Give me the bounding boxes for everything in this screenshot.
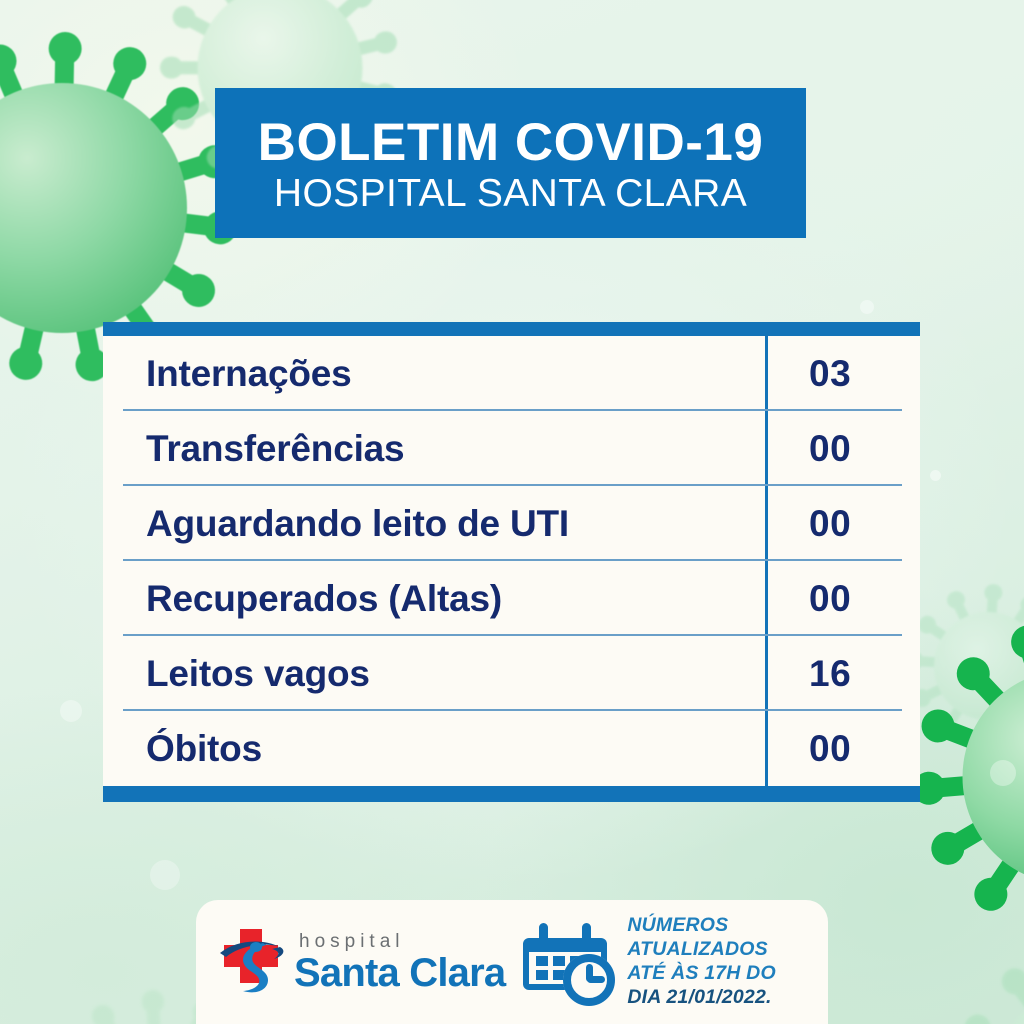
covid-bulletin-poster: BOLETIM COVID-19 HOSPITAL SANTA CLARA In… xyxy=(0,0,1024,1024)
page-subtitle: HOSPITAL SANTA CLARA xyxy=(274,174,747,215)
hospital-cross-logo-icon xyxy=(210,923,296,1001)
logo-tagline: hospital xyxy=(299,932,505,951)
virus-particle-icon xyxy=(940,930,1024,1024)
table-top-bar xyxy=(103,322,920,336)
row-value: 03 xyxy=(765,353,920,395)
row-value: 00 xyxy=(765,428,920,470)
row-label: Óbitos xyxy=(103,728,765,770)
hospital-logo: hospital Santa Clara xyxy=(210,923,505,1001)
row-label: Recuperados (Altas) xyxy=(103,578,765,620)
update-line: ATÉ ÀS 17H DO xyxy=(627,962,776,986)
row-label: Leitos vagos xyxy=(103,653,765,695)
footer-bar: hospital Santa Clara NÚMEROS xyxy=(196,900,828,1024)
bokeh-dot xyxy=(860,300,874,314)
row-label: Aguardando leito de UTI xyxy=(103,503,765,545)
table-row: Transferências 00 xyxy=(103,411,920,486)
calendar-clock-icon xyxy=(523,918,615,1006)
bokeh-dot xyxy=(60,700,82,722)
bokeh-dot xyxy=(930,470,941,481)
table-bottom-bar xyxy=(103,786,920,802)
page-title: BOLETIM COVID-19 xyxy=(258,116,764,170)
virus-particle-icon xyxy=(905,612,1024,942)
table-row: Aguardando leito de UTI 00 xyxy=(103,486,920,561)
bokeh-dot xyxy=(990,760,1016,786)
bokeh-dot xyxy=(150,860,180,890)
update-line: NÚMEROS xyxy=(627,914,776,938)
update-note: NÚMEROS ATUALIZADOS ATÉ ÀS 17H DO DIA 21… xyxy=(627,914,776,1009)
table-row: Leitos vagos 16 xyxy=(103,636,920,711)
row-value: 00 xyxy=(765,728,920,770)
row-label: Transferências xyxy=(103,428,765,470)
table-body: Internações 03 Transferências 00 Aguarda… xyxy=(103,336,920,786)
hospital-wordmark: hospital Santa Clara xyxy=(294,932,505,993)
update-line: ATUALIZADOS xyxy=(627,938,776,962)
table-row: Recuperados (Altas) 00 xyxy=(103,561,920,636)
logo-name: Santa Clara xyxy=(294,953,505,993)
stats-table: Internações 03 Transferências 00 Aguarda… xyxy=(103,322,920,802)
update-date: DIA 21/01/2022. xyxy=(627,986,776,1010)
row-label: Internações xyxy=(103,353,765,395)
row-value: 00 xyxy=(765,503,920,545)
table-row: Óbitos 00 xyxy=(103,711,920,786)
page-title-block: BOLETIM COVID-19 HOSPITAL SANTA CLARA xyxy=(215,88,806,238)
row-value: 16 xyxy=(765,653,920,695)
table-row: Internações 03 xyxy=(103,336,920,411)
row-value: 00 xyxy=(765,578,920,620)
